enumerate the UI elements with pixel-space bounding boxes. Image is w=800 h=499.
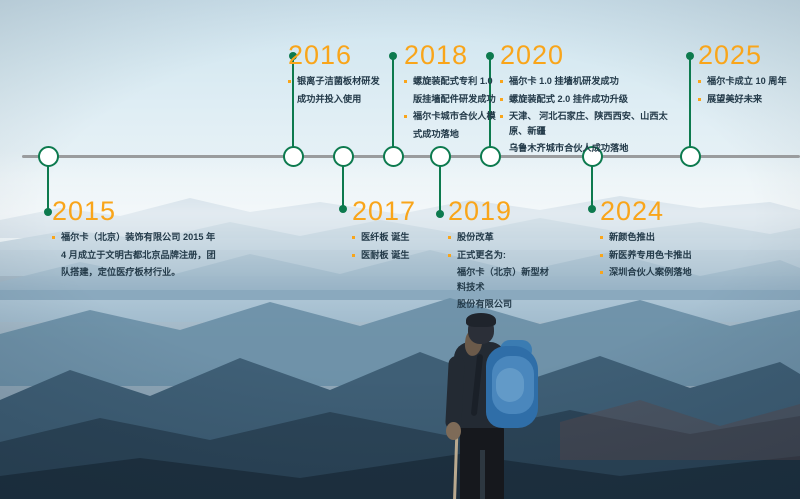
timeline-year-label-2017: 2017: [352, 196, 442, 226]
timeline-bullet: 福尔卡 1.0 挂墙机研发成功: [500, 74, 685, 89]
timeline-year-label-2025: 2025: [698, 40, 800, 70]
timeline-entry-2016: 2016银离子洁菌板材研发成功并投入使用: [288, 40, 383, 109]
timeline-node-2016[interactable]: [283, 146, 304, 167]
timeline-bullet: 福尔卡（北京）新型材料技术: [448, 265, 558, 294]
timeline-bullet-list-2016: 银离子洁菌板材研发成功并投入使用: [288, 74, 383, 106]
timeline-bullet: 股份改革: [448, 230, 558, 245]
timeline-entry-2018: 2018螺旋装配式专利 1.0版挂墙配件研发成功福尔卡城市合伙人模式成功落地: [404, 40, 504, 144]
timeline-node-ring-2015: [38, 146, 59, 167]
timeline-node-ring-2018: [383, 146, 404, 167]
timeline-stem-cap-2025: [686, 52, 694, 60]
timeline-node-ring-2016: [283, 146, 304, 167]
timeline-bullet: 展望美好未来: [698, 92, 800, 107]
timeline-node-ring-2019: [430, 146, 451, 167]
timeline-bullet-list-2017: 医纤板 诞生医耐板 诞生: [352, 230, 442, 262]
timeline-bullet: 银离子洁菌板材研发: [288, 74, 383, 89]
timeline-bullet: 式成功落地: [404, 127, 504, 142]
timeline-year-label-2015: 2015: [52, 196, 237, 226]
timeline-entry-2017: 2017医纤板 诞生医耐板 诞生: [352, 196, 442, 265]
timeline-stem-cap-2017: [339, 205, 347, 213]
timeline-bullet: 福尔卡成立 10 周年: [698, 74, 800, 89]
timeline-bullet-list-2015: 福尔卡（北京）装饰有限公司 2015 年4 月成立于文明古都北京品牌注册，团队搭…: [52, 230, 237, 280]
timeline-node-2019[interactable]: [430, 146, 451, 167]
timeline-entry-2019: 2019股份改革正式更名为:福尔卡（北京）新型材料技术股份有限公司: [448, 196, 558, 315]
timeline-bullet: 新颜色推出: [600, 230, 730, 245]
timeline-node-ring-2017: [333, 146, 354, 167]
hiker-figure: [430, 310, 560, 499]
timeline-stem-2018: [392, 56, 395, 156]
timeline-bullet-list-2018: 螺旋装配式专利 1.0版挂墙配件研发成功福尔卡城市合伙人模式成功落地: [404, 74, 504, 141]
timeline-bullet-list-2025: 福尔卡成立 10 周年展望美好未来: [698, 74, 800, 106]
timeline-stem-cap-2024: [588, 205, 596, 213]
timeline-year-label-2018: 2018: [404, 40, 504, 70]
timeline-bullet: 成功并投入使用: [288, 92, 383, 107]
backpack-highlight: [496, 368, 524, 402]
timeline-year-label-2020: 2020: [500, 40, 685, 70]
timeline-bullet-list-2019: 股份改革正式更名为:福尔卡（北京）新型材料技术股份有限公司: [448, 230, 558, 312]
timeline-bullet-list-2020: 福尔卡 1.0 挂墙机研发成功螺旋装配式 2.0 挂件成功升级天津、 河北石家庄…: [500, 74, 685, 156]
hiker-leg-gap: [480, 450, 485, 499]
timeline-bullet: 正式更名为:: [448, 248, 558, 263]
timeline-bullet: 队搭建，定位医疗板材行业。: [52, 265, 237, 280]
timeline-year-label-2016: 2016: [288, 40, 383, 70]
hiker-hand: [446, 422, 461, 440]
timeline-stem-2025: [689, 56, 692, 156]
timeline-bullet: 医耐板 诞生: [352, 248, 442, 263]
trekking-pole: [453, 436, 459, 499]
timeline-year-label-2019: 2019: [448, 196, 558, 226]
timeline-node-ring-2020: [480, 146, 501, 167]
timeline-bullet-list-2024: 新颜色推出新医养专用色卡推出深圳合伙人案例落地: [600, 230, 730, 280]
timeline-stem-cap-2015: [44, 208, 52, 216]
timeline-bullet: 医纤板 诞生: [352, 230, 442, 245]
timeline-node-2017[interactable]: [333, 146, 354, 167]
timeline-bullet: 4 月成立于文明古都北京品牌注册，团: [52, 248, 237, 263]
timeline-bullet: 福尔卡（北京）装饰有限公司 2015 年: [52, 230, 237, 245]
timeline-bullet: 螺旋装配式 2.0 挂件成功升级: [500, 92, 685, 107]
timeline-entry-2024: 2024新颜色推出新医养专用色卡推出深圳合伙人案例落地: [600, 196, 730, 283]
timeline-bullet: 股份有限公司: [448, 297, 558, 312]
timeline-bullet: 深圳合伙人案例落地: [600, 265, 730, 280]
timeline-year-label-2024: 2024: [600, 196, 730, 226]
timeline-entry-2015: 2015福尔卡（北京）装饰有限公司 2015 年4 月成立于文明古都北京品牌注册…: [52, 196, 237, 283]
timeline-stem-cap-2018: [389, 52, 397, 60]
hiker-headband: [466, 313, 496, 327]
timeline-bullet: 螺旋装配式专利 1.0: [404, 74, 504, 89]
timeline-node-2018[interactable]: [383, 146, 404, 167]
timeline-entry-2025: 2025福尔卡成立 10 周年展望美好未来: [698, 40, 800, 109]
timeline-bullet: 天津、 河北石家庄、陕西西安、山西太原、新疆: [500, 109, 685, 138]
timeline-bullet: 福尔卡城市合伙人模: [404, 109, 504, 124]
timeline-entry-2020: 2020福尔卡 1.0 挂墙机研发成功螺旋装配式 2.0 挂件成功升级天津、 河…: [500, 40, 685, 159]
timeline-bullet: 乌鲁木齐城市合伙人成功落地: [500, 141, 685, 156]
timeline-node-2020[interactable]: [480, 146, 501, 167]
timeline-bullet: 新医养专用色卡推出: [600, 248, 730, 263]
timeline-node-2015[interactable]: [38, 146, 59, 167]
timeline-bullet: 版挂墙配件研发成功: [404, 92, 504, 107]
timeline-infographic: 2015福尔卡（北京）装饰有限公司 2015 年4 月成立于文明古都北京品牌注册…: [0, 0, 800, 499]
